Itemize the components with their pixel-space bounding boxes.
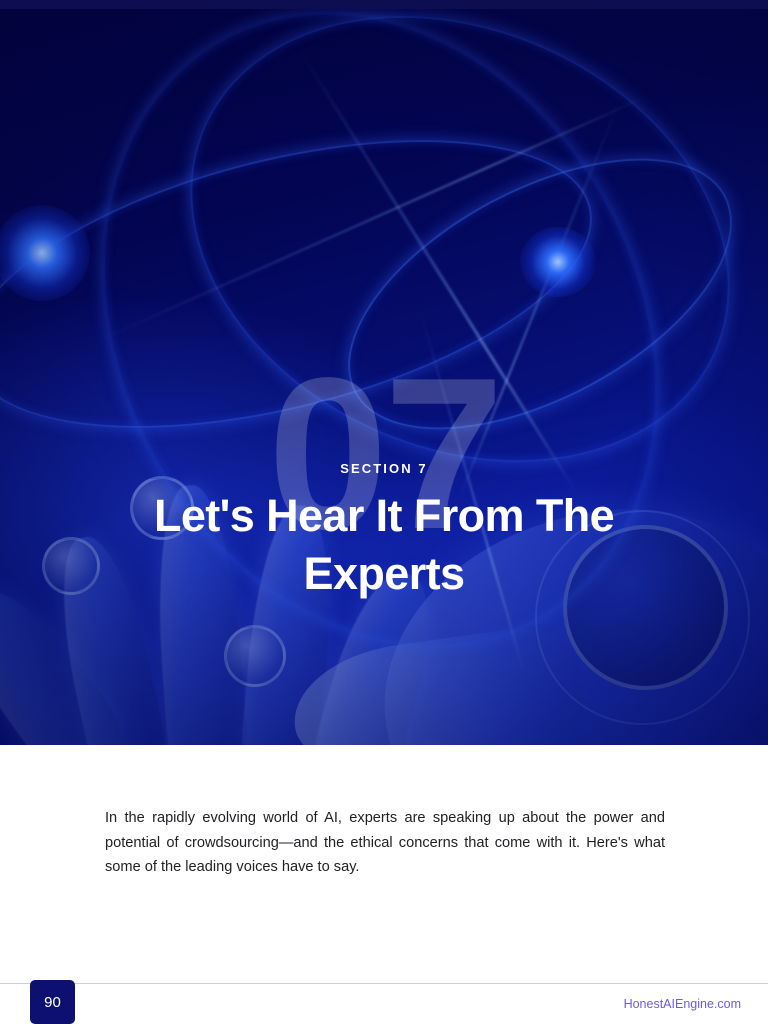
top-strip bbox=[0, 0, 768, 9]
section-eyebrow-label: SECTION 7 bbox=[60, 461, 708, 476]
hero-section: 07 SECTION 7 Let's Hear It From The Expe… bbox=[0, 9, 768, 745]
page-title: Let's Hear It From The Experts bbox=[104, 487, 664, 602]
pdf-page: 07 SECTION 7 Let's Hear It From The Expe… bbox=[0, 0, 768, 1024]
footer-website-link[interactable]: HonestAIEngine.com bbox=[624, 997, 741, 1011]
footer-divider bbox=[0, 983, 768, 984]
page-number-label: 90 bbox=[44, 994, 61, 1011]
hero-text-block: SECTION 7 Let's Hear It From The Experts bbox=[0, 461, 768, 602]
intro-paragraph-block: In the rapidly evolving world of AI, exp… bbox=[105, 806, 665, 880]
intro-paragraph: In the rapidly evolving world of AI, exp… bbox=[105, 806, 665, 880]
page-number-badge: 90 bbox=[30, 980, 75, 1024]
